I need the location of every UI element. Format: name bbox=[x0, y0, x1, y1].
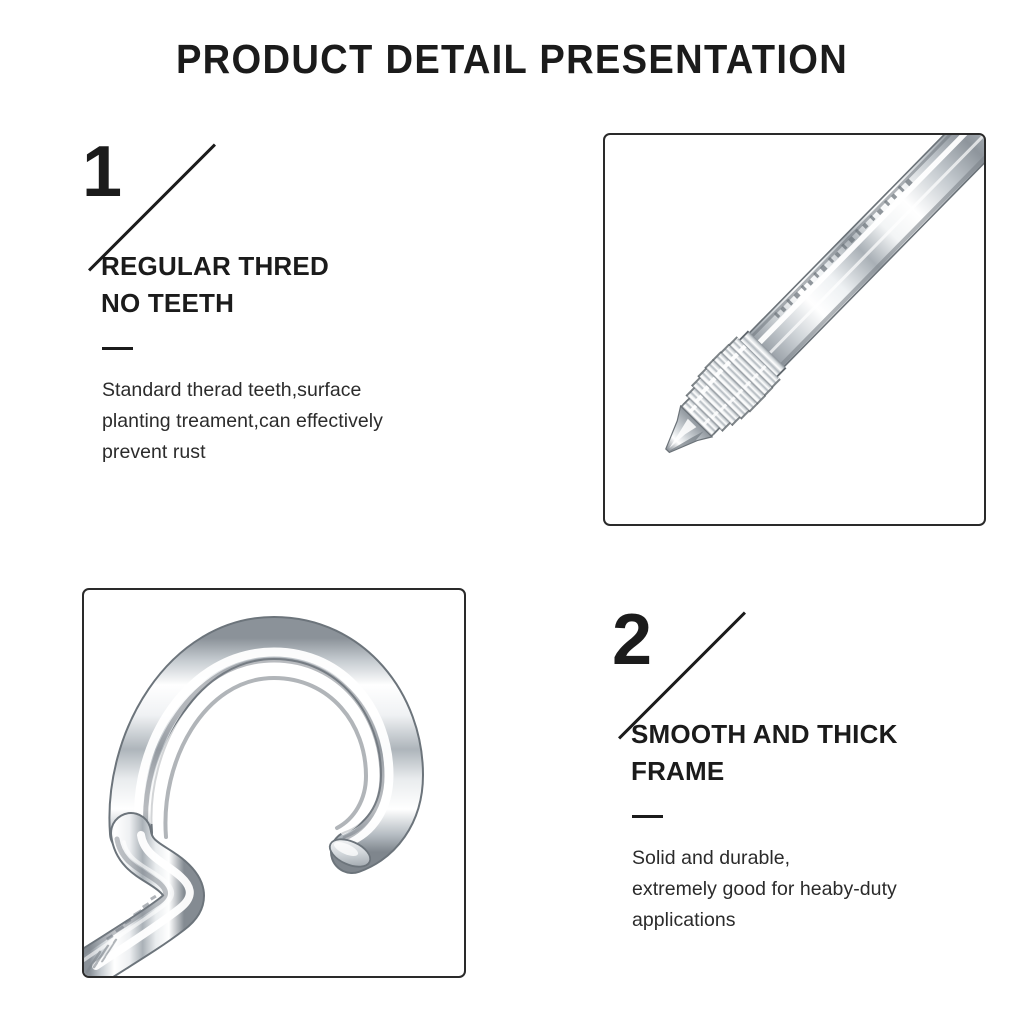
feature-1-heading-line1: REGULAR THRED bbox=[101, 248, 461, 285]
hook-illustration bbox=[84, 590, 464, 976]
feature-1-body-line3: prevent rust bbox=[102, 437, 492, 468]
feature-block-1: 1 REGULAR THRED NO TEETH Standard therad… bbox=[62, 136, 462, 278]
feature-2-body: Solid and durable, extremely good for he… bbox=[632, 843, 1022, 936]
threaded-screw-point-photo bbox=[603, 133, 986, 526]
hook-loop-photo bbox=[82, 588, 466, 978]
feature-2-body-line3: applications bbox=[632, 905, 1022, 936]
feature-2-heading: SMOOTH AND THICK FRAME bbox=[631, 716, 991, 790]
feature-2-heading-line1: SMOOTH AND THICK bbox=[631, 716, 991, 753]
feature-1-body-line2: planting treament,can effectively bbox=[102, 406, 492, 437]
feature-1-divider bbox=[102, 347, 133, 350]
screw-shank bbox=[748, 135, 984, 368]
page-title: PRODUCT DETAIL PRESENTATION bbox=[36, 36, 988, 83]
screw-illustration bbox=[605, 135, 984, 524]
feature-block-2: 2 SMOOTH AND THICK FRAME Solid and durab… bbox=[592, 604, 992, 746]
feature-1-heading: REGULAR THRED NO TEETH bbox=[101, 248, 461, 322]
feature-2-body-line1: Solid and durable, bbox=[632, 843, 1022, 874]
hook-loop bbox=[130, 638, 402, 852]
feature-2-divider bbox=[632, 815, 663, 818]
hook-shank bbox=[84, 833, 190, 968]
feature-1-heading-line2: NO TEETH bbox=[101, 285, 461, 322]
feature-1-body: Standard therad teeth,surface planting t… bbox=[102, 375, 492, 468]
feature-2-heading-line2: FRAME bbox=[631, 753, 991, 790]
feature-1-body-line1: Standard therad teeth,surface bbox=[102, 375, 492, 406]
feature-2-body-line2: extremely good for heaby-duty bbox=[632, 874, 1022, 905]
